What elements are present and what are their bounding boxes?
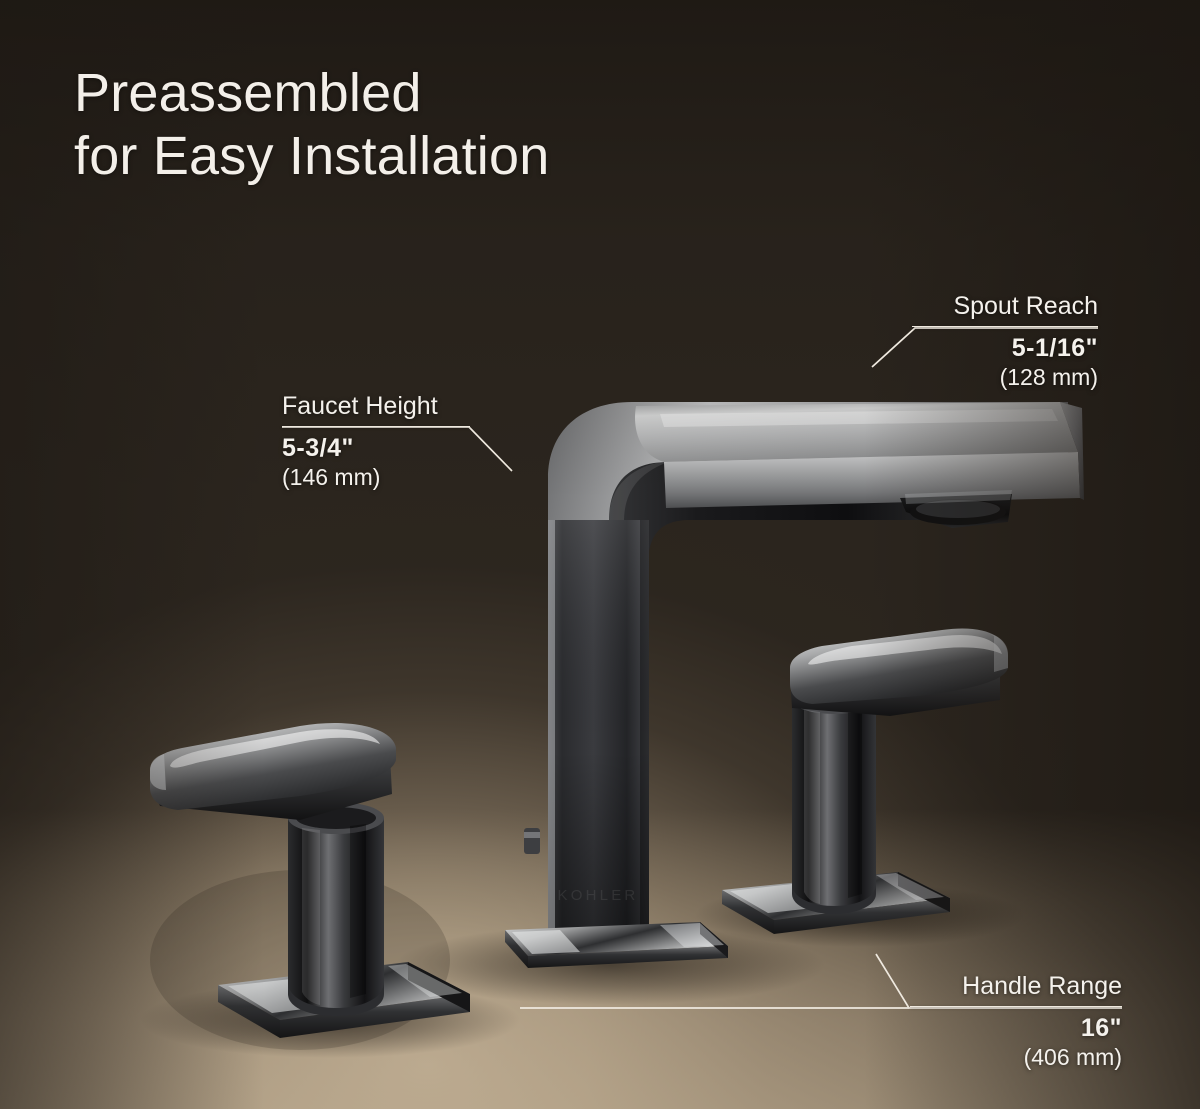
- callout-handle-range: Handle Range 16" (406 mm): [910, 972, 1122, 1072]
- callout-title: Faucet Height: [282, 392, 470, 421]
- callout-rule: [282, 426, 470, 427]
- callout-value-metric: (128 mm): [912, 363, 1098, 392]
- callout-title: Spout Reach: [912, 292, 1098, 321]
- callout-rule: [910, 1006, 1122, 1007]
- callout-rule: [912, 326, 1098, 327]
- callout-title: Handle Range: [910, 972, 1122, 1001]
- page-title: Preassembled for Easy Installation: [74, 62, 549, 187]
- callout-value-imperial: 5-3/4": [282, 433, 470, 463]
- product-dimension-graphic: KOHLER: [0, 0, 1200, 1109]
- callout-value-metric: (406 mm): [910, 1043, 1122, 1072]
- callout-value-metric: (146 mm): [282, 463, 470, 492]
- callout-value-imperial: 5-1/16": [912, 333, 1098, 363]
- callout-faucet-height: Faucet Height 5-3/4" (146 mm): [282, 392, 470, 492]
- callout-spout-reach: Spout Reach 5-1/16" (128 mm): [912, 292, 1098, 392]
- callout-value-imperial: 16": [910, 1013, 1122, 1043]
